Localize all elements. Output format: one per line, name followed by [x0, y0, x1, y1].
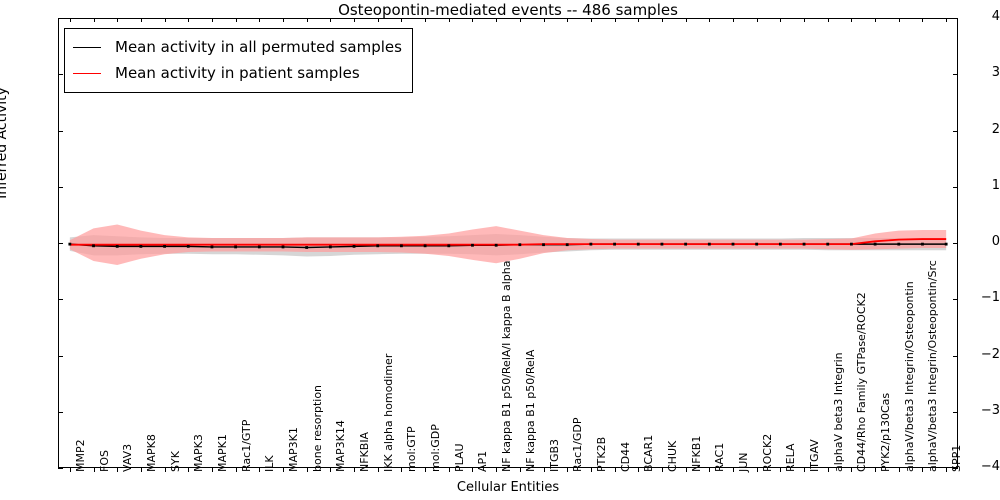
x-tick-mark: [686, 18, 687, 22]
x-tick-label: ITGB3: [548, 439, 561, 472]
x-tick-label: RELA: [784, 444, 797, 473]
x-tick-mark: [212, 18, 213, 22]
x-tick-mark: [686, 468, 687, 472]
data-point-marker: [353, 245, 356, 248]
data-point-marker: [116, 245, 119, 248]
x-tick-label: Rac1/GTP: [240, 420, 253, 472]
x-tick-mark: [496, 468, 497, 472]
x-tick-mark: [307, 18, 308, 22]
x-tick-mark: [283, 468, 284, 472]
x-tick-mark: [330, 18, 331, 22]
y-tick-mark: [953, 74, 958, 75]
data-point-marker: [92, 244, 95, 247]
data-point-marker: [637, 243, 640, 246]
y-tick-mark: [58, 299, 63, 300]
x-tick-mark: [804, 18, 805, 22]
data-point-marker: [779, 243, 782, 246]
y-tick-label: −2: [948, 347, 1000, 362]
data-point-marker: [447, 244, 450, 247]
x-tick-label: MAP3K14: [334, 420, 347, 472]
x-tick-mark: [520, 468, 521, 472]
x-tick-mark: [94, 468, 95, 472]
x-tick-mark: [259, 468, 260, 472]
x-tick-mark: [638, 18, 639, 22]
x-tick-mark: [567, 18, 568, 22]
data-point-marker: [566, 243, 569, 246]
data-point-marker: [518, 243, 521, 246]
y-tick-mark: [58, 131, 63, 132]
x-tick-mark: [496, 18, 497, 22]
data-point-marker: [684, 243, 687, 246]
x-tick-label: Rac1/GDP: [571, 417, 584, 472]
x-tick-label: NF kappa B1 p50/RelA/I kappa B alpha: [500, 261, 513, 473]
x-tick-mark: [188, 468, 189, 472]
x-tick-label: MAPK8: [145, 434, 158, 472]
x-tick-mark: [875, 18, 876, 22]
x-tick-mark: [662, 18, 663, 22]
x-tick-mark: [165, 468, 166, 472]
x-tick-mark: [567, 468, 568, 472]
legend-line-red-icon: [73, 73, 101, 74]
x-tick-mark: [141, 18, 142, 22]
x-tick-label: AP1: [476, 451, 489, 472]
x-tick-mark: [472, 468, 473, 472]
x-tick-mark: [307, 468, 308, 472]
data-point-marker: [234, 246, 237, 249]
x-tick-mark: [70, 18, 71, 22]
x-tick-label: NFKBIA: [358, 432, 371, 472]
x-tick-label: CD44: [619, 442, 632, 472]
y-tick-label: −1: [948, 290, 1000, 305]
y-tick-mark: [58, 74, 63, 75]
data-point-marker: [542, 243, 545, 246]
y-tick-mark: [58, 18, 63, 19]
y-tick-mark: [58, 468, 63, 469]
x-tick-mark: [354, 18, 355, 22]
data-point-marker: [708, 243, 711, 246]
data-point-marker: [613, 243, 616, 246]
x-tick-mark: [709, 468, 710, 472]
legend-label-permuted: Mean activity in all permuted samples: [115, 38, 402, 56]
data-point-marker: [305, 246, 308, 249]
data-point-marker: [139, 245, 142, 248]
x-tick-mark: [236, 18, 237, 22]
x-tick-mark: [330, 468, 331, 472]
x-tick-mark: [662, 468, 663, 472]
x-tick-label: bone resorption: [311, 385, 324, 472]
x-tick-mark: [425, 468, 426, 472]
data-point-marker: [471, 244, 474, 247]
y-tick-mark: [953, 243, 958, 244]
x-tick-label: VAV3: [121, 444, 134, 472]
y-tick-mark: [953, 412, 958, 413]
x-tick-mark: [259, 18, 260, 22]
x-tick-mark: [378, 18, 379, 22]
x-tick-label: mol:GTP: [405, 426, 418, 472]
y-tick-mark: [953, 356, 958, 357]
legend-item-permuted: Mean activity in all permuted samples: [73, 34, 402, 60]
x-tick-label: MAPK3: [192, 434, 205, 472]
x-tick-label: MAP3K1: [287, 427, 300, 472]
x-tick-mark: [757, 468, 758, 472]
x-tick-label: NF kappa B1 p50/RelA: [524, 350, 537, 472]
data-point-marker: [495, 244, 498, 247]
data-point-marker: [329, 246, 332, 249]
x-tick-mark: [401, 468, 402, 472]
x-tick-mark: [709, 18, 710, 22]
x-tick-mark: [922, 468, 923, 472]
x-tick-mark: [804, 468, 805, 472]
data-point-marker: [258, 246, 261, 249]
x-tick-mark: [401, 18, 402, 22]
x-tick-mark: [212, 468, 213, 472]
data-point-marker: [826, 243, 829, 246]
data-point-marker: [376, 244, 379, 247]
x-tick-label: JUN: [737, 452, 750, 472]
x-tick-mark: [354, 468, 355, 472]
data-point-marker: [803, 243, 806, 246]
x-tick-mark: [117, 18, 118, 22]
x-tick-mark: [141, 468, 142, 472]
data-point-marker: [921, 243, 924, 246]
data-point-marker: [755, 243, 758, 246]
x-tick-mark: [449, 18, 450, 22]
data-point-marker: [850, 243, 853, 246]
x-tick-label: CHUK: [666, 441, 679, 472]
x-tick-mark: [591, 18, 592, 22]
data-point-marker: [732, 243, 735, 246]
x-tick-mark: [922, 18, 923, 22]
x-tick-label: BCAR1: [642, 435, 655, 472]
legend-label-patient: Mean activity in patient samples: [115, 64, 360, 82]
x-tick-label: mol:GDP: [429, 424, 442, 472]
x-tick-label: PLAU: [453, 443, 466, 472]
y-tick-mark: [58, 412, 63, 413]
x-tick-label: CD44/Rho Family GTPase/ROCK2: [855, 292, 868, 472]
y-tick-mark: [58, 243, 63, 244]
data-point-marker: [897, 243, 900, 246]
x-tick-mark: [946, 468, 947, 472]
y-tick-label: 2: [948, 122, 1000, 137]
x-tick-label: NFKB1: [690, 436, 703, 472]
x-tick-label: PYK2/p130Cas: [879, 393, 892, 472]
legend-line-black-icon: [73, 47, 101, 48]
x-tick-mark: [875, 468, 876, 472]
data-point-marker: [424, 244, 427, 247]
chart-root: Osteopontin-mediated events -- 486 sampl…: [0, 0, 1000, 500]
data-point-marker: [589, 243, 592, 246]
y-tick-mark: [953, 131, 958, 132]
x-tick-mark: [899, 468, 900, 472]
x-tick-label: SPP1: [950, 445, 963, 472]
y-axis-label: Inferred Activity: [0, 43, 10, 243]
y-tick-label: 0: [948, 234, 1000, 249]
y-tick-label: −3: [948, 403, 1000, 418]
y-tick-mark: [953, 187, 958, 188]
y-tick-label: 4: [948, 9, 1000, 24]
x-tick-mark: [615, 468, 616, 472]
x-tick-mark: [757, 18, 758, 22]
y-tick-label: 1: [948, 178, 1000, 193]
x-tick-label: MAPK1: [216, 434, 229, 472]
x-tick-mark: [615, 18, 616, 22]
x-tick-label: ILK: [263, 455, 276, 472]
chart-title: Osteopontin-mediated events -- 486 sampl…: [58, 1, 958, 19]
data-point-marker: [874, 243, 877, 246]
data-point-marker: [68, 243, 71, 246]
x-tick-label: IKK alpha homodimer: [382, 354, 395, 472]
x-tick-mark: [117, 468, 118, 472]
data-point-marker: [661, 243, 664, 246]
x-tick-mark: [472, 18, 473, 22]
x-tick-mark: [425, 18, 426, 22]
x-tick-mark: [378, 468, 379, 472]
y-tick-label: 3: [948, 65, 1000, 80]
legend: Mean activity in all permuted samples Me…: [64, 28, 413, 93]
x-tick-mark: [828, 18, 829, 22]
legend-item-patient: Mean activity in patient samples: [73, 60, 402, 86]
x-tick-label: PTK2B: [595, 437, 608, 472]
y-tick-mark: [58, 356, 63, 357]
x-tick-label: FOS: [98, 450, 111, 472]
y-tick-mark: [58, 187, 63, 188]
x-tick-label: ITGAV: [808, 439, 821, 472]
x-tick-mark: [638, 468, 639, 472]
x-tick-mark: [544, 18, 545, 22]
y-tick-mark: [953, 299, 958, 300]
x-tick-mark: [449, 468, 450, 472]
x-tick-mark: [828, 468, 829, 472]
x-tick-label: ROCK2: [761, 434, 774, 472]
x-tick-mark: [780, 18, 781, 22]
x-tick-mark: [70, 468, 71, 472]
data-point-marker: [211, 246, 214, 249]
data-point-marker: [163, 245, 166, 248]
x-tick-mark: [899, 18, 900, 22]
x-tick-label: RAC1: [713, 443, 726, 472]
x-tick-mark: [236, 468, 237, 472]
x-tick-mark: [733, 18, 734, 22]
x-tick-mark: [946, 18, 947, 22]
data-point-marker: [282, 246, 285, 249]
x-tick-mark: [733, 468, 734, 472]
x-tick-label: alphaV beta3 Integrin: [832, 352, 845, 472]
y-tick-mark: [953, 18, 958, 19]
x-tick-label: alphaV/beta3 Integrin/Osteopontin/Src: [926, 260, 939, 472]
x-tick-label: SYK: [169, 451, 182, 472]
x-tick-mark: [591, 468, 592, 472]
x-tick-mark: [851, 18, 852, 22]
x-tick-mark: [544, 468, 545, 472]
x-tick-mark: [780, 468, 781, 472]
x-tick-mark: [94, 18, 95, 22]
x-tick-label: MMP2: [74, 439, 87, 472]
x-axis-label: Cellular Entities: [58, 480, 958, 495]
x-tick-mark: [188, 18, 189, 22]
x-tick-mark: [520, 18, 521, 22]
x-tick-mark: [165, 18, 166, 22]
data-point-marker: [400, 244, 403, 247]
x-tick-mark: [283, 18, 284, 22]
data-point-marker: [187, 245, 190, 248]
x-tick-mark: [851, 468, 852, 472]
x-tick-label: alphaV/beta3 Integrin/Osteopontin: [903, 281, 916, 472]
